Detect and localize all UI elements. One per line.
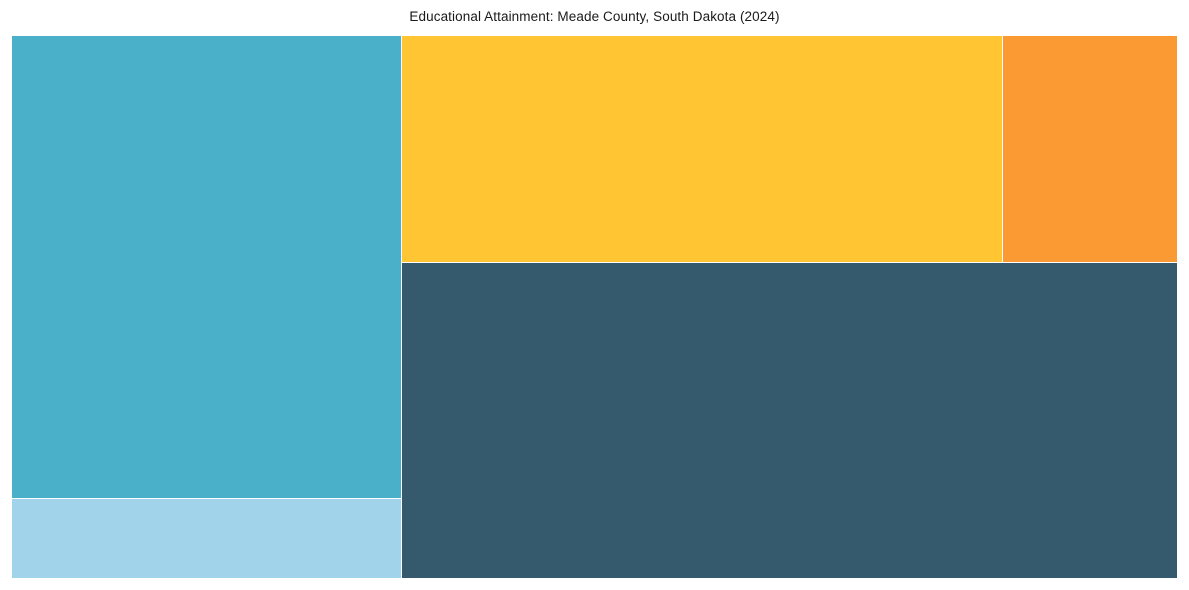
page-title: Educational Attainment: Meade County, So… — [0, 7, 1189, 26]
treemap-tile[interactable] — [402, 263, 1177, 578]
treemap-plot-area — [12, 36, 1177, 578]
treemap-tile[interactable] — [402, 36, 1002, 262]
treemap-tile[interactable] — [1003, 36, 1177, 262]
treemap-tile[interactable] — [12, 499, 401, 578]
treemap-tile[interactable] — [12, 36, 401, 498]
treemap-figure: Educational Attainment: Meade County, So… — [0, 0, 1189, 590]
